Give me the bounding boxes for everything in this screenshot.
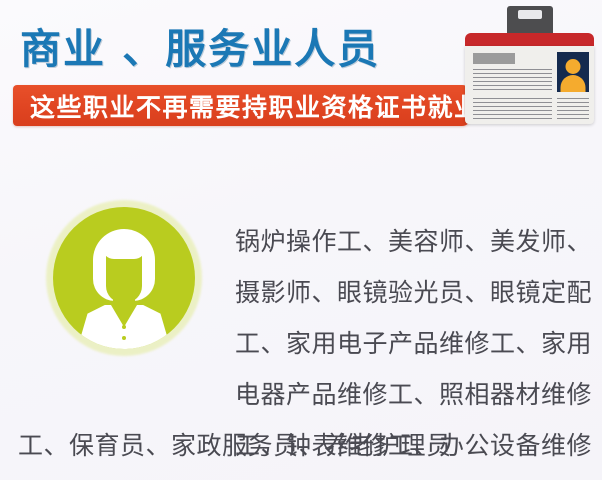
badge-photo-icon	[557, 52, 589, 92]
id-card-icon	[462, 6, 598, 126]
badge-photo-head	[566, 59, 581, 74]
avatar-shirt-button-1	[122, 325, 126, 329]
badge-text-lines-upper	[473, 69, 552, 90]
avatar-fringe	[102, 247, 146, 259]
badge-clip-slot	[518, 10, 542, 19]
avatar-disc	[53, 207, 195, 349]
badge-text-lines-lower	[473, 98, 552, 119]
person-avatar-icon	[46, 200, 202, 356]
page-title: 商业 、服务业人员	[20, 22, 380, 76]
infographic-poster: 商业 、服务业人员 这些职业不再需要持职业资格证书就业	[0, 0, 602, 480]
badge-text-lines-side	[557, 98, 589, 119]
badge-photo-body	[561, 75, 586, 92]
avatar-shirt-button-2	[122, 336, 126, 340]
subtitle-banner: 这些职业不再需要持职业资格证书就业	[13, 85, 471, 126]
badge-card-body	[465, 46, 594, 124]
badge-name-field	[473, 53, 515, 64]
subtitle-banner-text: 这些职业不再需要持职业资格证书就业	[30, 88, 481, 124]
occupation-list-text-continued: 工、保育员、家政服务员、养老护理员	[18, 420, 598, 471]
